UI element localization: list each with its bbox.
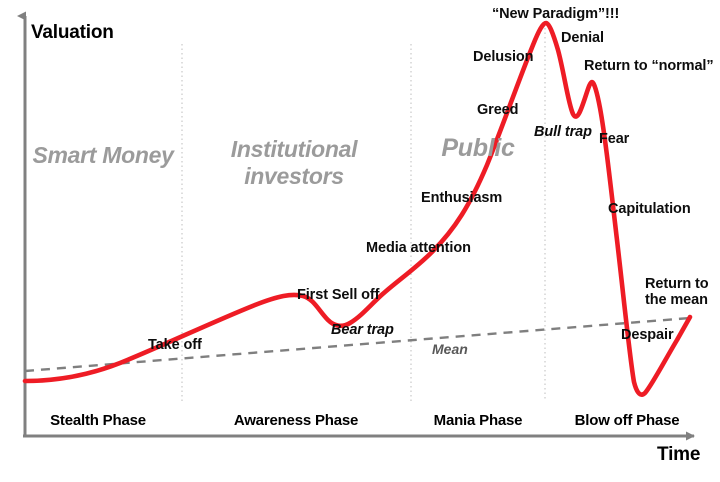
annotation-media-attention: Media attention [366,240,471,256]
annotation-return-to-the-mean: Return tothe mean [645,276,709,308]
watermark-institutional-line1: Institutional [231,136,357,162]
annotation-delusion: Delusion [473,49,533,65]
annotation-return-mean-line1: Return to [645,276,709,292]
annotation-fear: Fear [599,131,629,147]
annotation-capitulation: Capitulation [608,201,691,217]
annotation-greed: Greed [477,102,518,118]
x-axis-title: Time [657,444,700,466]
annotation-new-paradigm: “New Paradigm”!!! [492,6,619,22]
annotation-bull-trap: Bull trap [534,124,592,140]
annotation-bear-trap: Bear trap [331,322,394,338]
watermark-smart-money: Smart Money [3,142,203,169]
annotation-despair: Despair [621,327,674,343]
annotation-return-mean-line2: the mean [645,292,708,308]
mean-line-label: Mean [432,341,468,357]
y-axis-title: Valuation [31,22,114,44]
watermark-institutional-line2: investors [244,163,344,189]
annotation-return-to-normal: Return to “normal” [584,58,714,74]
bubble-valuation-curve [25,23,690,395]
phase-label-stealth: Stealth Phase [18,412,178,429]
phase-label-mania: Mania Phase [398,412,558,429]
watermark-institutional-investors: Institutionalinvestors [194,136,394,189]
bubble-phases-chart: Valuation Time Smart Money Institutional… [0,0,720,482]
annotation-first-sell-off: First Sell off [297,287,379,303]
annotation-enthusiasm: Enthusiasm [421,190,502,206]
phase-label-blow-off: Blow off Phase [547,412,707,429]
phase-label-awareness: Awareness Phase [216,412,376,429]
annotation-denial: Denial [561,30,604,46]
annotation-take-off: Take off [148,337,202,353]
